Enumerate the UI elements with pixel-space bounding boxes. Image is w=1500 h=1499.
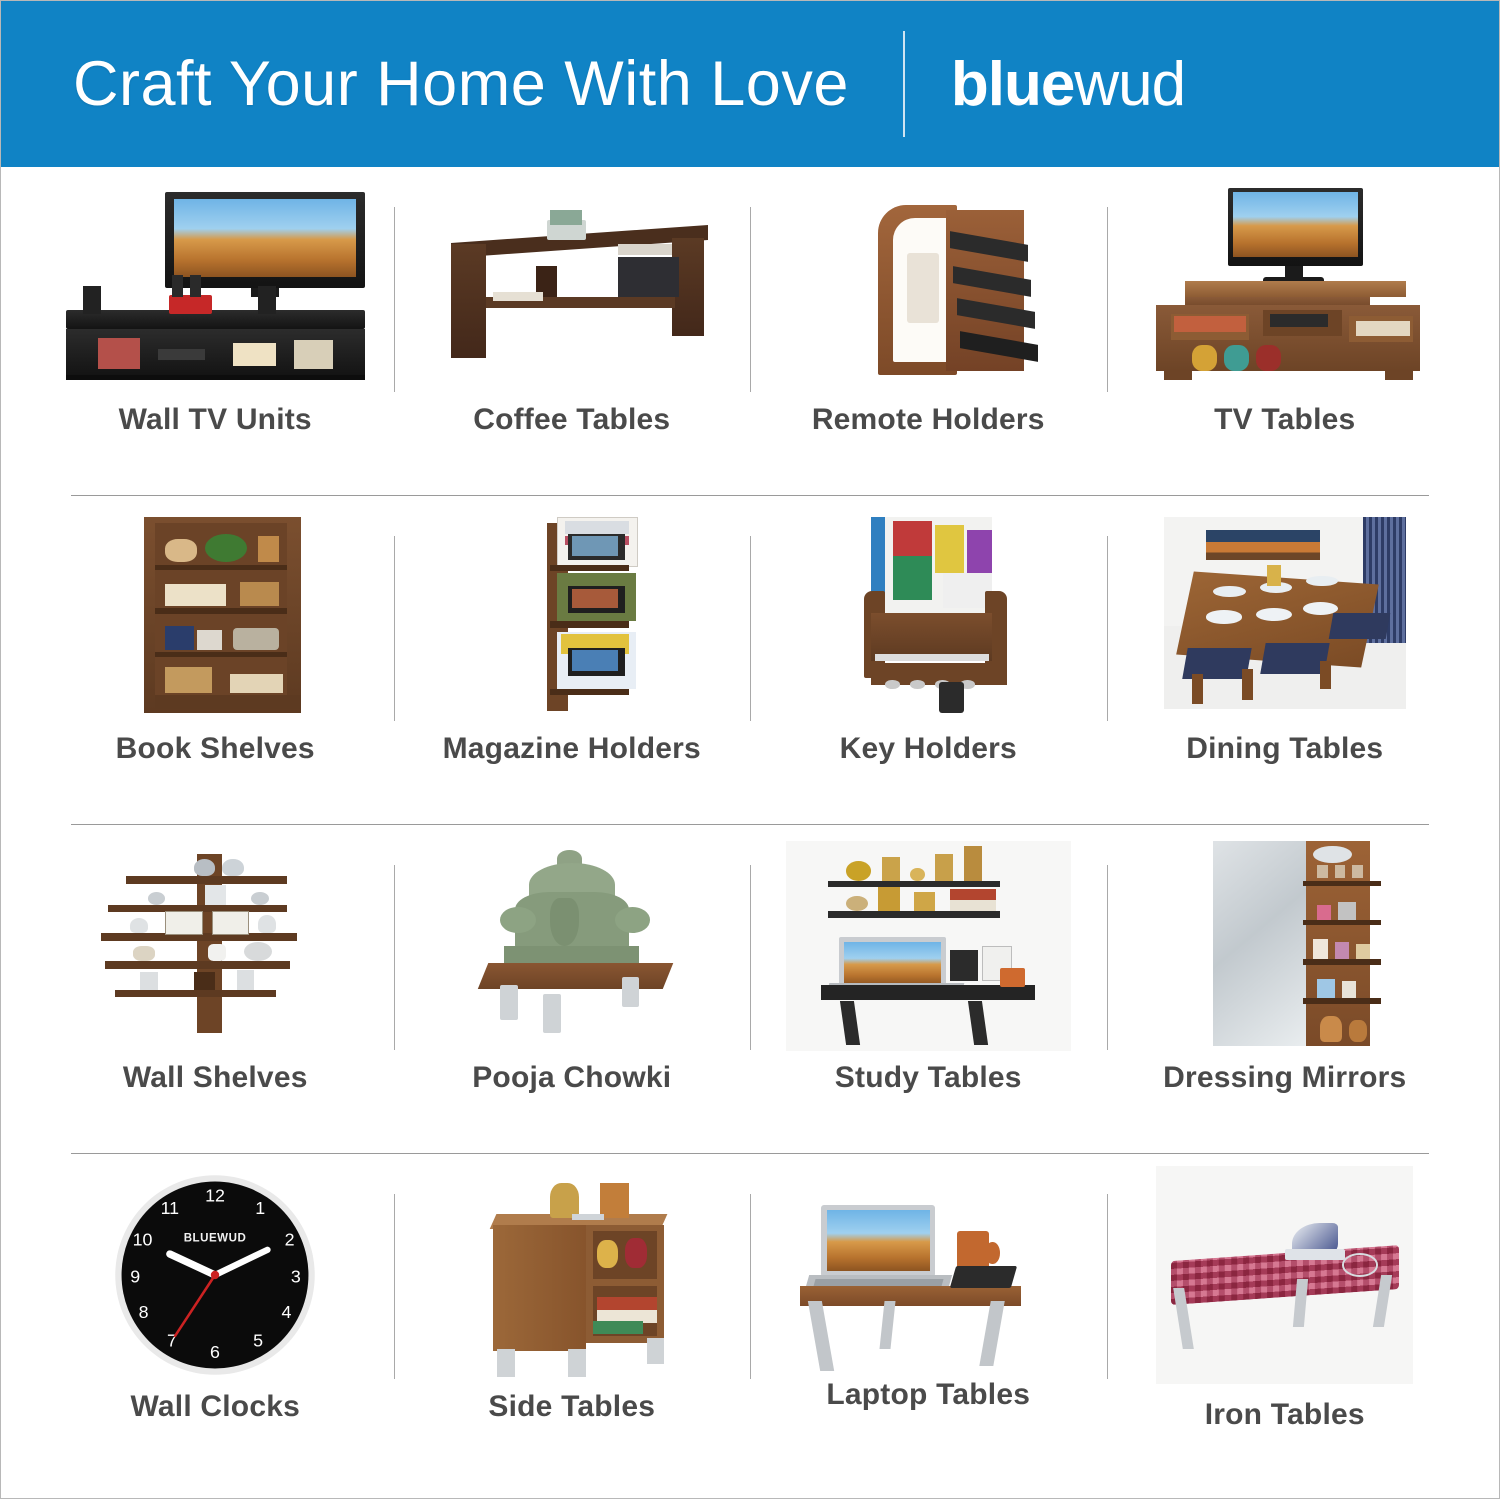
category-cell-key-holders[interactable]: Key Holders — [750, 496, 1107, 825]
category-label: Wall TV Units — [119, 403, 312, 437]
svg-text:2: 2 — [285, 1230, 295, 1250]
wall-clock-icon: 12 1 2 3 4 5 6 7 8 9 10 — [37, 1154, 394, 1384]
logo-text-wud: wud — [1074, 50, 1185, 119]
category-label: TV Tables — [1214, 403, 1355, 437]
svg-text:1: 1 — [255, 1198, 265, 1218]
wall-tv-unit-icon — [37, 167, 394, 397]
category-cell-dining-tables[interactable]: Dining Tables — [1107, 496, 1464, 825]
category-cell-study-tables[interactable]: Study Tables — [750, 825, 1107, 1154]
category-label: Study Tables — [835, 1061, 1022, 1095]
svg-text:9: 9 — [130, 1266, 140, 1286]
category-label: Book Shelves — [116, 732, 315, 766]
category-label: Coffee Tables — [473, 403, 670, 437]
brand-header: Craft Your Home With Love bluewud — [1, 1, 1499, 167]
category-grid: Wall TV Units — [1, 167, 1499, 1483]
study-table-icon — [750, 825, 1107, 1055]
category-cell-iron-tables[interactable]: Iron Tables — [1107, 1154, 1464, 1483]
category-label: Iron Tables — [1205, 1398, 1365, 1432]
svg-text:5: 5 — [253, 1330, 263, 1350]
side-table-icon — [394, 1154, 751, 1384]
category-row-2: Book Shelves — [37, 496, 1463, 825]
remote-holder-icon — [750, 167, 1107, 397]
category-label: Dining Tables — [1186, 732, 1383, 766]
key-holder-icon — [750, 496, 1107, 726]
clock-face: 12 1 2 3 4 5 6 7 8 9 10 — [110, 1170, 320, 1380]
category-label: Remote Holders — [812, 403, 1045, 437]
category-cell-wall-tv-units[interactable]: Wall TV Units — [37, 167, 394, 496]
category-label: Dressing Mirrors — [1163, 1061, 1406, 1095]
category-cell-coffee-tables[interactable]: Coffee Tables — [394, 167, 751, 496]
category-row-3: Wall Shelves — [37, 825, 1463, 1154]
coffee-table-icon — [394, 167, 751, 397]
svg-text:4: 4 — [282, 1302, 292, 1322]
magazine-holder-icon — [394, 496, 751, 726]
pooja-chowki-icon — [394, 825, 751, 1055]
book-shelf-icon — [37, 496, 394, 726]
category-label: Wall Clocks — [131, 1390, 300, 1424]
dressing-mirror-icon — [1107, 825, 1464, 1055]
promo-banner-page: Craft Your Home With Love bluewud — [0, 0, 1500, 1499]
category-row-4: 12 1 2 3 4 5 6 7 8 9 10 — [37, 1154, 1463, 1483]
category-label: Wall Shelves — [123, 1061, 308, 1095]
header-divider — [903, 31, 905, 137]
category-cell-dressing-mirrors[interactable]: Dressing Mirrors — [1107, 825, 1464, 1154]
category-cell-laptop-tables[interactable]: Laptop Tables — [750, 1154, 1107, 1483]
wall-shelf-icon — [37, 825, 394, 1055]
category-cell-book-shelves[interactable]: Book Shelves — [37, 496, 394, 825]
category-label: Side Tables — [488, 1390, 655, 1424]
category-label: Magazine Holders — [443, 732, 701, 766]
category-row-1: Wall TV Units — [37, 167, 1463, 496]
clock-brand-text: BLUEWUD — [184, 1232, 247, 1244]
category-cell-magazine-holders[interactable]: Magazine Holders — [394, 496, 751, 825]
category-cell-tv-tables[interactable]: TV Tables — [1107, 167, 1464, 496]
page-title: Craft Your Home With Love — [73, 48, 849, 120]
category-label: Pooja Chowki — [472, 1061, 671, 1095]
svg-text:6: 6 — [210, 1342, 220, 1362]
svg-text:10: 10 — [133, 1230, 153, 1250]
category-label: Key Holders — [840, 732, 1017, 766]
dining-table-icon — [1107, 496, 1464, 726]
category-cell-wall-shelves[interactable]: Wall Shelves — [37, 825, 394, 1154]
category-cell-side-tables[interactable]: Side Tables — [394, 1154, 751, 1483]
svg-text:12: 12 — [205, 1186, 225, 1206]
logo-text-blue: blue — [951, 50, 1074, 119]
iron-table-icon — [1107, 1154, 1464, 1384]
svg-text:3: 3 — [291, 1266, 301, 1286]
tv-table-icon — [1107, 167, 1464, 397]
svg-text:11: 11 — [161, 1198, 180, 1218]
bluewud-logo: bluewud — [951, 49, 1185, 120]
category-cell-pooja-chowki[interactable]: Pooja Chowki — [394, 825, 751, 1154]
category-cell-remote-holders[interactable]: Remote Holders — [750, 167, 1107, 496]
category-cell-wall-clocks[interactable]: 12 1 2 3 4 5 6 7 8 9 10 — [37, 1154, 394, 1483]
svg-text:8: 8 — [139, 1302, 149, 1322]
laptop-table-icon — [750, 1154, 1107, 1384]
